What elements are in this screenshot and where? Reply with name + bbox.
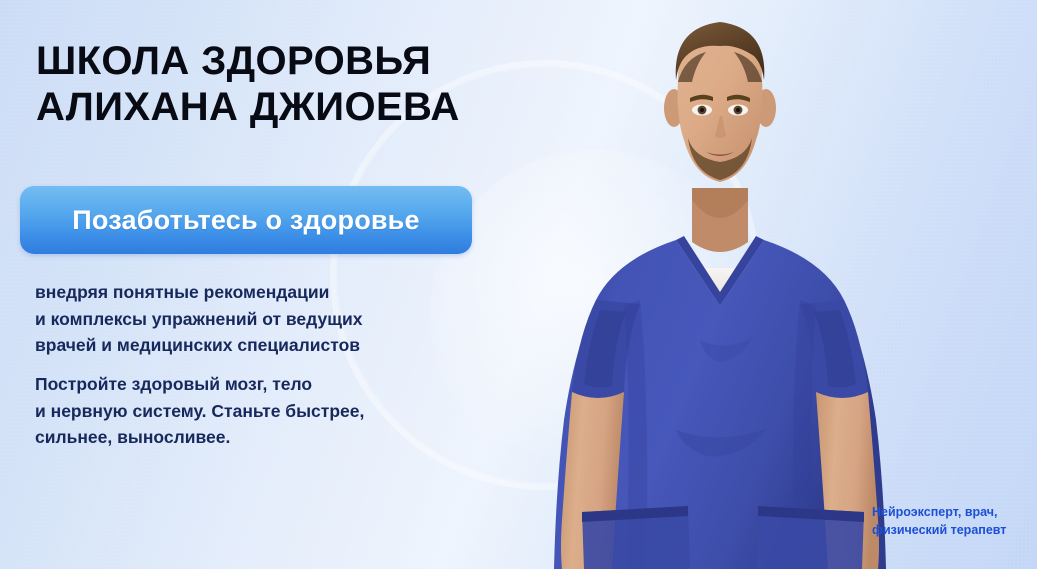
health-school-promo-banner: ШКОЛА ЗДОРОВЬЯ АЛИХАНА ДЖИОЕВА Позаботьт… [0,0,1037,569]
description-paragraph-1: внедряя понятные рекомендации и комплекс… [35,279,505,359]
cta-badge[interactable]: Позаботьтесь о здоровье [20,186,472,254]
cta-badge-label: Позаботьтесь о здоровье [72,205,419,236]
presenter-credentials: Нейроэксперт, врач, физический терапевт [872,503,1032,539]
page-title: ШКОЛА ЗДОРОВЬЯ АЛИХАНА ДЖИОЕВА [36,38,636,131]
description-paragraph-2: Постройте здоровый мозг, тело и нервную … [35,371,505,451]
